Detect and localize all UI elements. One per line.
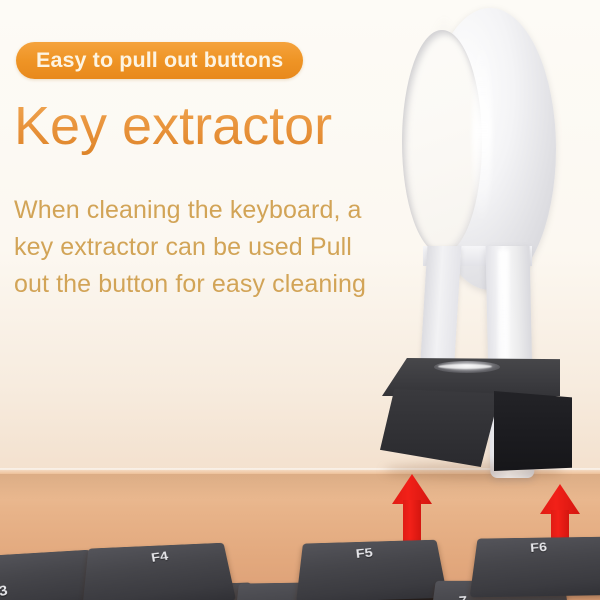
keyboard-key: F5 [296,540,448,600]
key-glyph: F6 [530,540,548,555]
key-glyph: F5 [355,546,374,562]
description-text: When cleaning the keyboard, a key extrac… [14,192,424,303]
key-glyph: F3 [0,583,9,600]
keyboard-key: F6 [470,537,600,598]
description-line-1: When cleaning the keyboard, a [14,192,424,229]
description-line-2: key extractor can be used Pull [14,229,424,266]
page-title: Key extractor [14,96,332,156]
keyboard-foreground: F3 5 % F4 6 ^ F5 7 & F6 [0,520,600,600]
key-glyph: 7 [459,594,467,600]
keycap-front-face [380,389,500,467]
product-promo-image: Easy to pull out buttons Key extractor W… [0,0,600,600]
tool-ring-highlight [472,36,492,226]
keycap-gloss-core [438,364,492,369]
tool-ring-opening [402,30,482,254]
promo-badge: Easy to pull out buttons [16,42,303,79]
promo-badge-label: Easy to pull out buttons [36,48,283,73]
description-line-3: out the button for easy cleaning [14,266,424,303]
keyboard-key: F4 [82,543,236,600]
lifted-keycap [376,355,600,480]
keycap-right-face [494,391,572,471]
key-extractor-tool [376,0,600,500]
key-glyph: F4 [150,549,169,565]
